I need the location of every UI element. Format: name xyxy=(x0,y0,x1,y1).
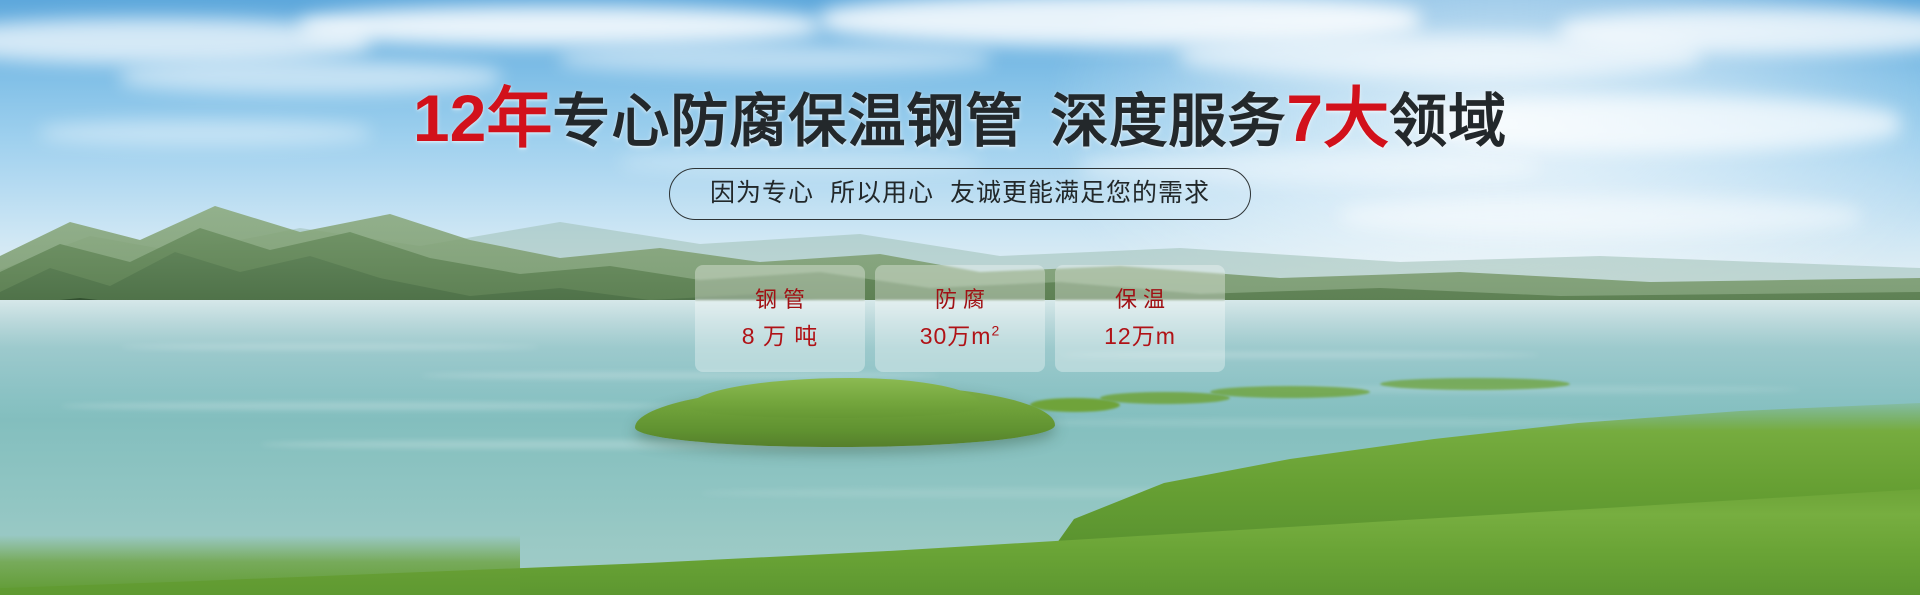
stat-card-value: 8 万 吨 xyxy=(742,323,819,349)
grass-tuft xyxy=(1380,378,1570,390)
headline: 12年专心防腐保温钢管深度服务7大领域 xyxy=(0,86,1920,154)
headline-service-text: 深度服务 xyxy=(1050,89,1286,154)
stat-card-value: 12万m xyxy=(1104,323,1176,349)
headline-fields-number: 7 xyxy=(1286,81,1323,155)
stat-card-value: 30万m2 xyxy=(920,323,1001,349)
stat-card-insulation[interactable]: 保温 12万m xyxy=(1055,265,1225,372)
stat-card-value-superscript: 2 xyxy=(991,322,1000,338)
stat-cards: 钢管 8 万 吨 防腐 30万m2 保温 12万m xyxy=(0,265,1920,372)
stat-card-label: 防腐 xyxy=(929,288,991,312)
headline-years-unit: 年 xyxy=(486,81,552,155)
stat-card-label: 钢管 xyxy=(749,288,811,312)
water-ripple xyxy=(60,402,680,410)
grass-tuft xyxy=(1100,392,1230,404)
subtitle-part-2: 所以用心 xyxy=(830,179,934,207)
stat-card-label: 保温 xyxy=(1109,288,1171,312)
stat-card-value-text: 12万m xyxy=(1104,323,1176,349)
headline-main-text: 专心防腐保温钢管 xyxy=(552,89,1024,154)
stat-card-steel-pipe[interactable]: 钢管 8 万 吨 xyxy=(695,265,865,372)
grass-tuft xyxy=(1210,386,1370,398)
grass-left-edge xyxy=(0,535,520,595)
promotional-banner: 12年专心防腐保温钢管深度服务7大领域 因为专心所以用心友诚更能满足您的需求 钢… xyxy=(0,0,1920,595)
subtitle-part-1: 因为专心 xyxy=(710,179,814,207)
headline-fields-unit: 大 xyxy=(1323,81,1389,155)
stat-card-anticorrosion[interactable]: 防腐 30万m2 xyxy=(875,265,1045,372)
subtitle-part-3: 友诚更能满足您的需求 xyxy=(950,179,1210,207)
headline-years-number: 12 xyxy=(413,81,486,155)
stat-card-value-text: 8 万 吨 xyxy=(742,323,819,349)
subtitle-pill: 因为专心所以用心友诚更能满足您的需求 xyxy=(669,168,1251,220)
stat-card-value-text: 30万m xyxy=(920,323,992,349)
headline-fields-text: 领域 xyxy=(1389,89,1507,154)
subtitle-container: 因为专心所以用心友诚更能满足您的需求 xyxy=(0,168,1920,220)
